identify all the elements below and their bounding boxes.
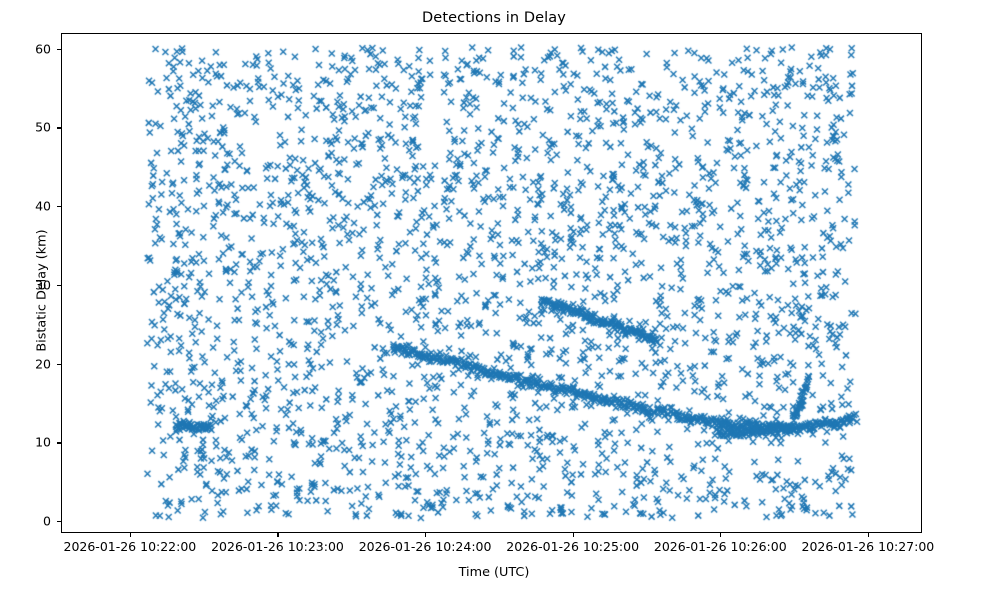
- y-tick-mark: [57, 285, 61, 286]
- y-tick-label: 10: [35, 435, 51, 450]
- y-axis-label: Bistatic Delay (km): [35, 191, 50, 391]
- x-tick-mark: [130, 533, 131, 537]
- y-tick-mark: [57, 364, 61, 365]
- y-tick-mark: [57, 127, 61, 128]
- x-tick-mark: [277, 533, 278, 537]
- x-tick-label: 2026-01-26 10:27:00: [801, 539, 934, 554]
- x-tick-mark: [868, 533, 869, 537]
- x-tick-label: 2026-01-26 10:22:00: [63, 539, 196, 554]
- y-tick-label: 60: [35, 41, 51, 56]
- scatter-plot-canvas: [62, 34, 921, 532]
- matplotlib-figure: Detections in Delay 0102030405060 2026-0…: [0, 0, 988, 590]
- x-axis-label: Time (UTC): [0, 565, 988, 580]
- y-tick-label: 50: [35, 120, 51, 135]
- x-tick-mark: [573, 533, 574, 537]
- y-tick-label: 0: [43, 514, 51, 529]
- y-tick-mark: [57, 206, 61, 207]
- x-tick-label: 2026-01-26 10:25:00: [506, 539, 639, 554]
- x-tick-mark: [720, 533, 721, 537]
- y-tick-mark: [57, 49, 61, 50]
- y-tick-mark: [57, 442, 61, 443]
- x-tick-label: 2026-01-26 10:23:00: [211, 539, 344, 554]
- x-tick-label: 2026-01-26 10:24:00: [359, 539, 492, 554]
- y-tick-mark: [57, 521, 61, 522]
- x-tick-mark: [425, 533, 426, 537]
- x-tick-label: 2026-01-26 10:26:00: [654, 539, 787, 554]
- page-title: Detections in Delay: [0, 10, 988, 26]
